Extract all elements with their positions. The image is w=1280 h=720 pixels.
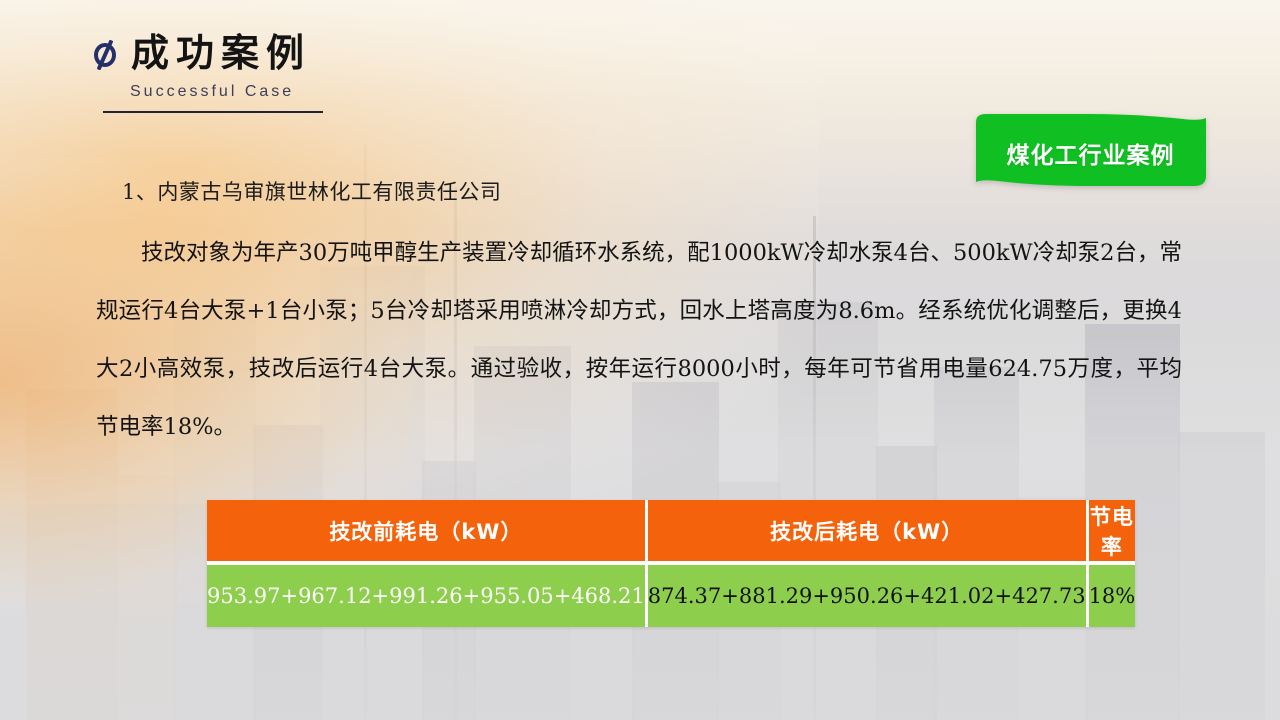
table-header-saving-rate: 节电率 bbox=[1089, 500, 1136, 565]
table-header-row: 技改前耗电（kW） 技改后耗电（kW） 节电率 bbox=[207, 500, 1135, 565]
slide-header: 成功案例 Successful Case bbox=[92, 34, 572, 113]
case-company-line: 1、内蒙古乌审旗世林化工有限责任公司 bbox=[122, 176, 1186, 206]
content-body: 1、内蒙古乌审旗世林化工有限责任公司 技改对象为年产30万吨甲醇生产装置冷却循环… bbox=[96, 176, 1186, 456]
title-divider bbox=[103, 111, 323, 113]
industry-banner-label: 煤化工行业案例 bbox=[968, 136, 1213, 170]
title-row: 成功案例 bbox=[92, 34, 572, 74]
cell-saving-rate: 18% bbox=[1089, 565, 1136, 627]
page-subtitle: Successful Case bbox=[130, 83, 572, 101]
table-row: 953.97+967.12+991.26+955.05+468.21 874.3… bbox=[207, 565, 1135, 627]
cell-after-consumption: 874.37+881.29+950.26+421.02+427.73 bbox=[648, 565, 1089, 627]
slide: 成功案例 Successful Case 煤化工行业案例 1、内蒙古乌审旗世林化… bbox=[0, 0, 1280, 720]
page-title: 成功案例 bbox=[131, 34, 311, 74]
case-description-paragraph: 技改对象为年产30万吨甲醇生产装置冷却循环水系统，配1000kW冷却水泵4台、5… bbox=[96, 224, 1182, 456]
table-header-before: 技改前耗电（kW） bbox=[207, 500, 648, 565]
energy-comparison-table: 技改前耗电（kW） 技改后耗电（kW） 节电率 953.97+967.12+99… bbox=[207, 500, 1135, 627]
null-circle-slash-icon bbox=[92, 40, 122, 70]
cell-before-consumption: 953.97+967.12+991.26+955.05+468.21 bbox=[207, 565, 648, 627]
table-header-after: 技改后耗电（kW） bbox=[648, 500, 1089, 565]
